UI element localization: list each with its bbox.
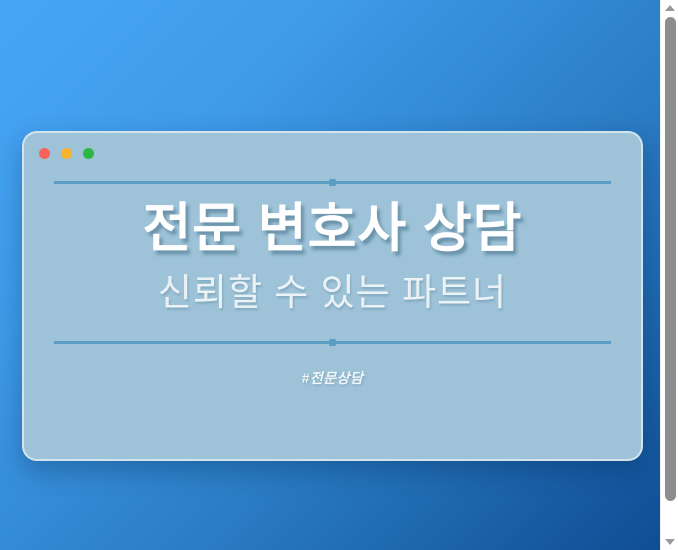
triangle-down-icon xyxy=(665,539,675,545)
divider-top xyxy=(54,181,611,184)
scroll-up-button[interactable] xyxy=(661,0,678,16)
card-content: 전문 변호사 상담 신뢰할 수 있는 파트너 #전문상담 xyxy=(24,133,641,459)
divider-node-icon xyxy=(329,339,336,346)
presentation-card: 전문 변호사 상담 신뢰할 수 있는 파트너 #전문상담 xyxy=(22,131,643,461)
triangle-up-icon xyxy=(665,5,675,11)
page-viewport: 전문 변호사 상담 신뢰할 수 있는 파트너 #전문상담 xyxy=(0,0,660,550)
scrollbar-thumb[interactable] xyxy=(665,17,676,501)
divider-bottom xyxy=(54,341,611,344)
divider-node-icon xyxy=(329,179,336,186)
scroll-down-button[interactable] xyxy=(661,534,678,550)
page-subtitle: 신뢰할 수 있는 파트너 xyxy=(158,273,507,314)
hashtag-label: #전문상담 xyxy=(302,368,364,388)
vertical-scrollbar[interactable] xyxy=(660,0,678,550)
page-title: 전문 변호사 상담 xyxy=(143,200,523,257)
